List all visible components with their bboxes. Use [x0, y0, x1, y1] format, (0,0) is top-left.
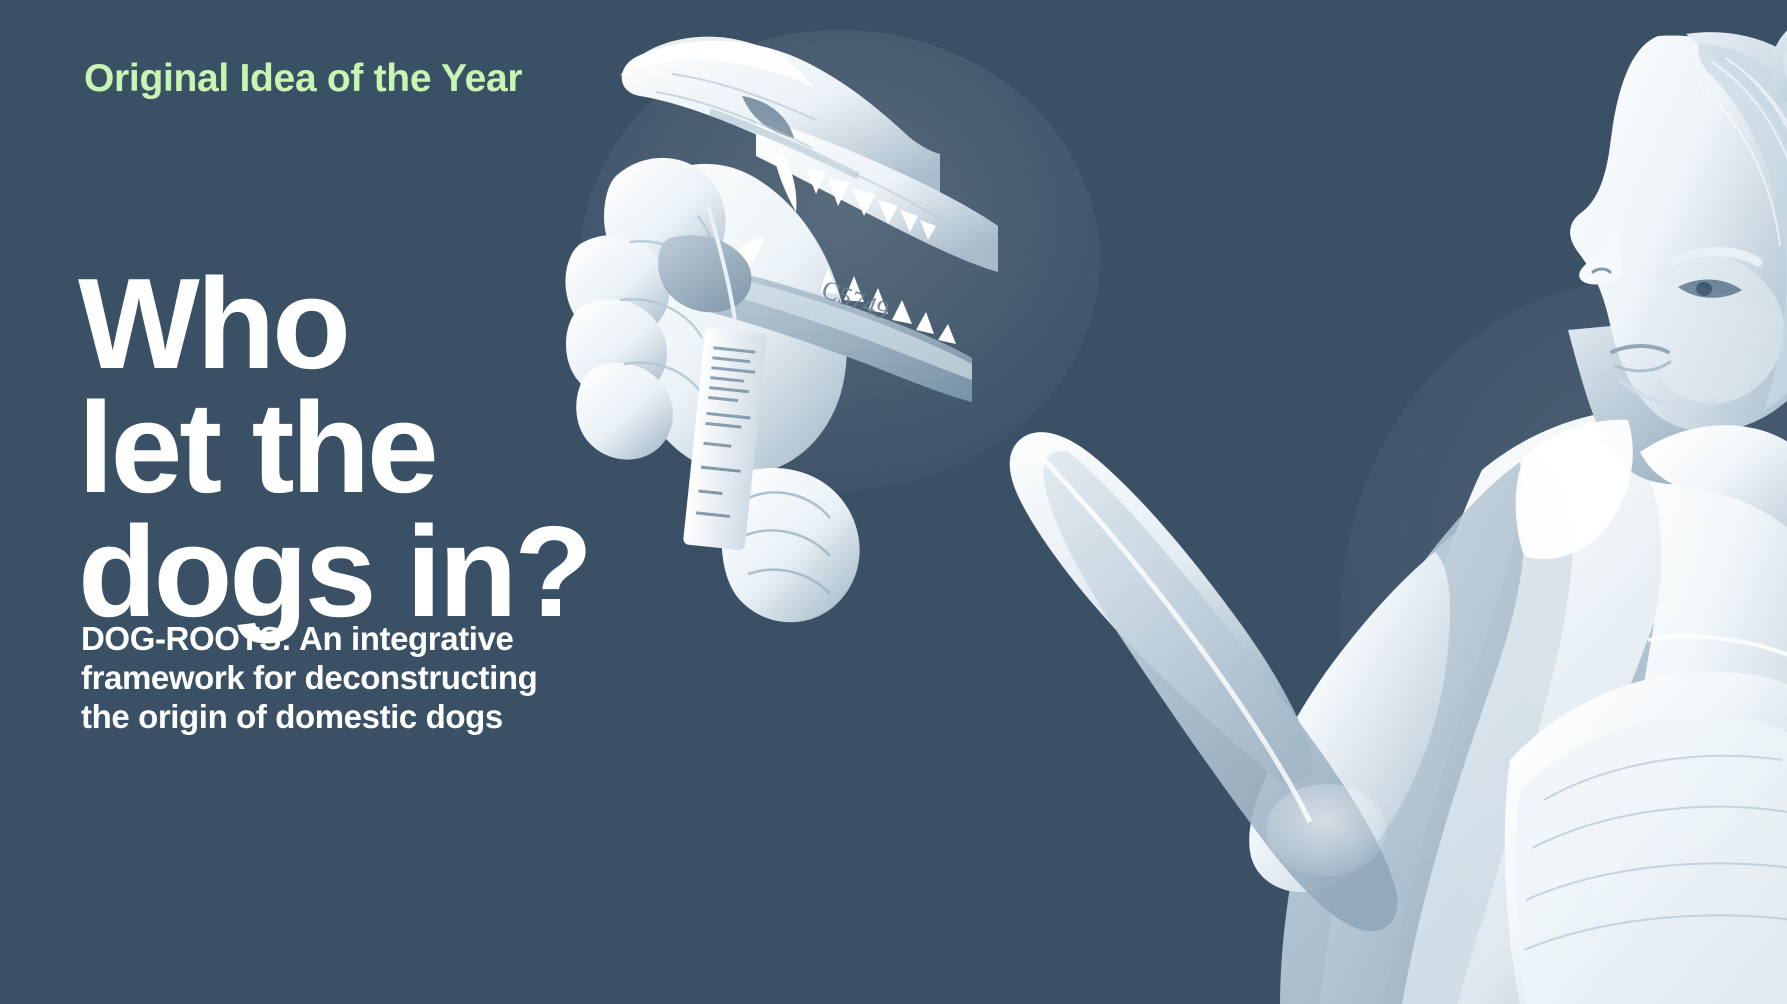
scientist-with-skull-photo: C5749 [520, 0, 1787, 1004]
subtitle-line-1: DOG-ROOTS: An integrative [81, 619, 537, 658]
photo-illustration: C5749 [520, 0, 1787, 1004]
headline-line-3: dogs in? [78, 510, 590, 634]
award-eyebrow-label: Original Idea of the Year [84, 57, 522, 101]
headline-line-1: Who [78, 262, 590, 386]
subtitle-line-3: the origin of domestic dogs [81, 697, 537, 736]
headline-line-2: let the [78, 386, 590, 510]
text-column: Original Idea of the Year Who let the do… [0, 0, 700, 1004]
page-title: Who let the dogs in? [78, 262, 590, 634]
subtitle-line-2: framework for deconstructing [81, 658, 537, 697]
presentation-slide: C5749 [0, 0, 1787, 1004]
project-subtitle: DOG-ROOTS: An integrative framework for … [81, 619, 537, 736]
